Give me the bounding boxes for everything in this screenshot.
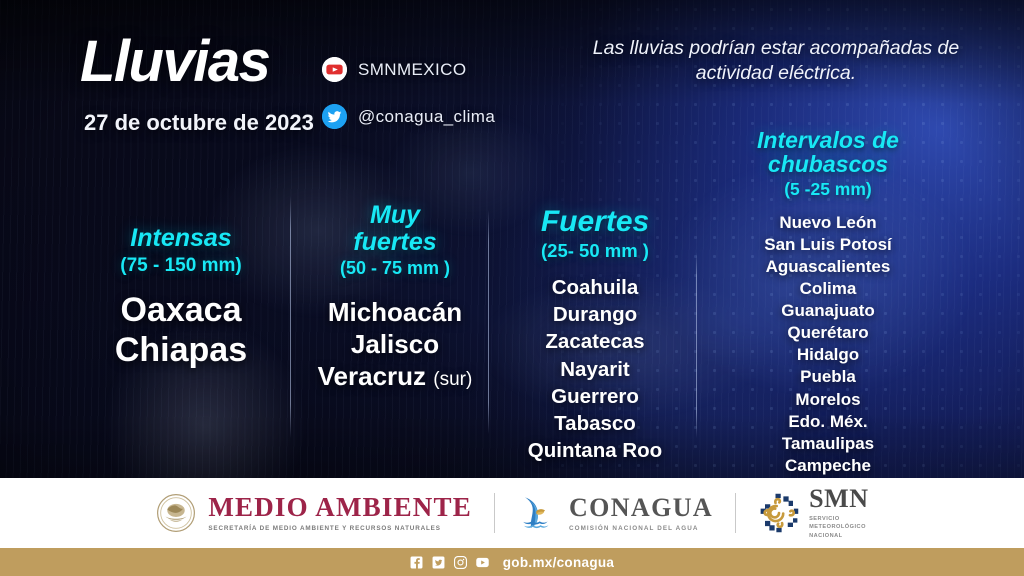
- gob-mx-url[interactable]: gob.mx/conagua: [503, 555, 614, 570]
- list-item: Oaxaca: [72, 291, 290, 331]
- smn-aztec-wind-icon: [758, 492, 800, 534]
- logo-separator-1: [494, 493, 495, 533]
- social-twitter[interactable]: @conagua_clima: [322, 104, 495, 129]
- smn-subtitle-line1: SERVICIO: [809, 516, 840, 522]
- list-item: San Luis Potosí: [716, 234, 940, 256]
- forecast-date: 27 de octubre de 2023: [84, 110, 314, 136]
- twitter-handle: @conagua_clima: [358, 107, 495, 127]
- medio-ambiente-title: MEDIO AMBIENTE: [208, 494, 472, 521]
- column-divider-1: [290, 196, 291, 438]
- list-item: Michoacán: [300, 296, 490, 328]
- logo-smn: SMN SERVICIO METEOROLÓGICO NACIONAL: [758, 486, 869, 539]
- state-list: Michoacán Jalisco Veracruz (sur): [300, 296, 490, 393]
- list-item: Tabasco: [500, 410, 690, 437]
- list-item: Nayarit: [500, 356, 690, 383]
- rain-category-muy-fuertes: Muy fuertes (50 - 75 mm ) Michoacán Jali…: [300, 202, 490, 392]
- list-item: Durango: [500, 301, 690, 328]
- mexico-coat-of-arms-icon: [155, 492, 197, 534]
- list-item: Nuevo León: [716, 212, 940, 234]
- state-list: Coahuila Durango Zacatecas Nayarit Guerr…: [500, 274, 690, 465]
- lightning-note: Las lluvias podrían estar acompañadas de…: [556, 36, 996, 87]
- category-title-line1: Intervalos de: [716, 128, 940, 152]
- rain-category-intensas: Intensas (75 - 150 mm) Oaxaca Chiapas: [72, 225, 290, 371]
- list-item: Querétaro: [716, 322, 940, 344]
- rain-category-fuertes: Fuertes (25- 50 mm ) Coahuila Durango Za…: [500, 206, 690, 465]
- category-title-line2: fuertes: [300, 229, 490, 256]
- page-title: Lluvias: [80, 33, 269, 91]
- conagua-water-eagle-icon: [517, 492, 559, 534]
- conagua-title: CONAGUA: [569, 495, 713, 521]
- smn-subtitle-line3: NACIONAL: [809, 533, 843, 539]
- medio-ambiente-subtitle: SECRETARÍA DE MEDIO AMBIENTE Y RECURSOS …: [208, 525, 472, 532]
- state-name: Veracruz: [318, 361, 426, 391]
- social-youtube[interactable]: SMNMEXICO: [322, 57, 466, 82]
- state-list: Nuevo León San Luis Potosí Aguascaliente…: [716, 212, 940, 499]
- list-item: Tamaulipas: [716, 433, 940, 455]
- conagua-subtitle: COMISIÓN NACIONAL DEL AGUA: [569, 525, 713, 532]
- category-title-line2: chubascos: [716, 152, 940, 176]
- category-title: Intervalos de chubascos: [716, 128, 940, 177]
- category-title: Fuertes: [500, 206, 690, 238]
- list-item: Quintana Roo: [500, 437, 690, 464]
- list-item: Zacatecas: [500, 328, 690, 355]
- conagua-text: CONAGUA COMISIÓN NACIONAL DEL AGUA: [569, 495, 713, 532]
- category-range: (25- 50 mm ): [500, 240, 690, 262]
- list-item: Colima: [716, 278, 940, 300]
- youtube-icon: [322, 57, 347, 82]
- twitter-icon[interactable]: [432, 556, 445, 569]
- logo-medio-ambiente: MEDIO AMBIENTE SECRETARÍA DE MEDIO AMBIE…: [155, 492, 472, 534]
- state-region-note: (sur): [433, 369, 472, 390]
- instagram-icon[interactable]: [454, 556, 467, 569]
- logo-conagua: CONAGUA COMISIÓN NACIONAL DEL AGUA: [517, 492, 713, 534]
- smn-text: SMN SERVICIO METEOROLÓGICO NACIONAL: [809, 486, 869, 539]
- smn-subtitle-line2: METEOROLÓGICO: [809, 524, 866, 530]
- medio-ambiente-text: MEDIO AMBIENTE SECRETARÍA DE MEDIO AMBIE…: [208, 494, 472, 532]
- rain-category-chubascos: Intervalos de chubascos (5 -25 mm) Nuevo…: [716, 128, 940, 499]
- list-item: Jalisco: [300, 328, 490, 360]
- list-item: Edo. Méx.: [716, 411, 940, 433]
- list-item: Puebla: [716, 366, 940, 388]
- list-item: Chiapas: [72, 331, 290, 371]
- category-range: (50 - 75 mm ): [300, 258, 490, 280]
- youtube-handle: SMNMEXICO: [358, 60, 466, 80]
- footer-social-bar: gob.mx/conagua: [0, 548, 1024, 576]
- list-item: Aguascalientes: [716, 256, 940, 278]
- list-item: Guerrero: [500, 383, 690, 410]
- column-divider-3: [696, 252, 697, 438]
- twitter-icon: [322, 104, 347, 129]
- category-range: (5 -25 mm): [716, 179, 940, 200]
- category-title-line1: Muy: [300, 202, 490, 229]
- list-item: Guanajuato: [716, 300, 940, 322]
- category-title: Intensas: [72, 225, 290, 252]
- list-item: Morelos: [716, 389, 940, 411]
- logo-separator-2: [735, 493, 736, 533]
- footer-logo-bar: MEDIO AMBIENTE SECRETARÍA DE MEDIO AMBIE…: [0, 478, 1024, 548]
- infographic-root: Lluvias 27 de octubre de 2023 SMNMEXICO …: [0, 0, 1024, 576]
- list-item: Coahuila: [500, 274, 690, 301]
- youtube-icon[interactable]: [476, 556, 489, 569]
- category-range: (75 - 150 mm): [72, 255, 290, 278]
- smn-subtitle: SERVICIO METEOROLÓGICO NACIONAL: [809, 515, 869, 539]
- category-title: Muy fuertes: [300, 202, 490, 255]
- smn-title: SMN: [809, 486, 869, 512]
- list-item: Campeche: [716, 455, 940, 477]
- facebook-icon[interactable]: [410, 556, 423, 569]
- list-item: Hidalgo: [716, 344, 940, 366]
- list-item: Veracruz (sur): [300, 360, 490, 392]
- state-list: Oaxaca Chiapas: [72, 291, 290, 371]
